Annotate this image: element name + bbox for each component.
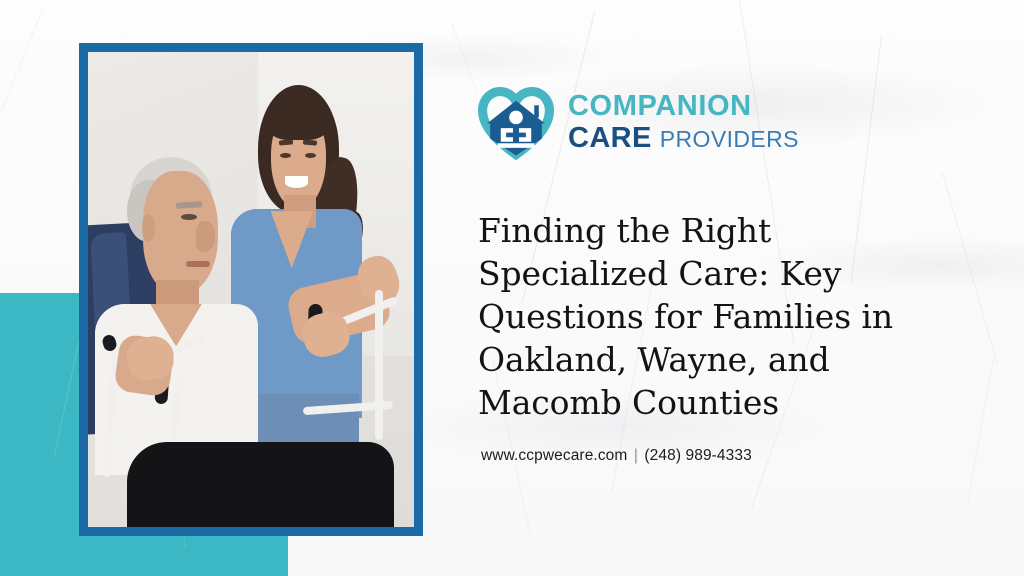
caregiver-smile xyxy=(285,176,308,188)
headline-line-4: Oakland, Wayne, and xyxy=(478,338,948,381)
logo-care-text: CARE xyxy=(568,124,652,153)
phone-number[interactable]: (248) 989-4333 xyxy=(644,447,751,464)
contact-line: www.ccpwecare.com | (248) 989-4333 xyxy=(481,447,752,465)
headline-line-1: Finding the Right xyxy=(478,209,948,252)
page-title: Finding the Right Specialized Care: Key … xyxy=(478,209,948,424)
logo-companion-text: COMPANION xyxy=(568,92,799,121)
headline-line-5: Macomb Counties xyxy=(478,381,948,424)
headline-line-2: Specialized Care: Key xyxy=(478,252,948,295)
logo-providers-text: PROVIDERS xyxy=(660,128,799,151)
contact-separator: | xyxy=(632,447,640,464)
brand-logo: COMPANION CARE PROVIDERS xyxy=(478,84,799,160)
headline-line-3: Questions for Families in xyxy=(478,295,948,338)
website-link[interactable]: www.ccpwecare.com xyxy=(481,447,627,464)
heart-house-cc-logo-icon xyxy=(478,84,554,160)
patient-black-pants xyxy=(127,442,394,528)
photo-card-frame xyxy=(79,43,423,536)
slide-canvas: COMPANION CARE PROVIDERS Finding the Rig… xyxy=(0,0,1024,576)
caregiver-photo xyxy=(88,52,414,527)
